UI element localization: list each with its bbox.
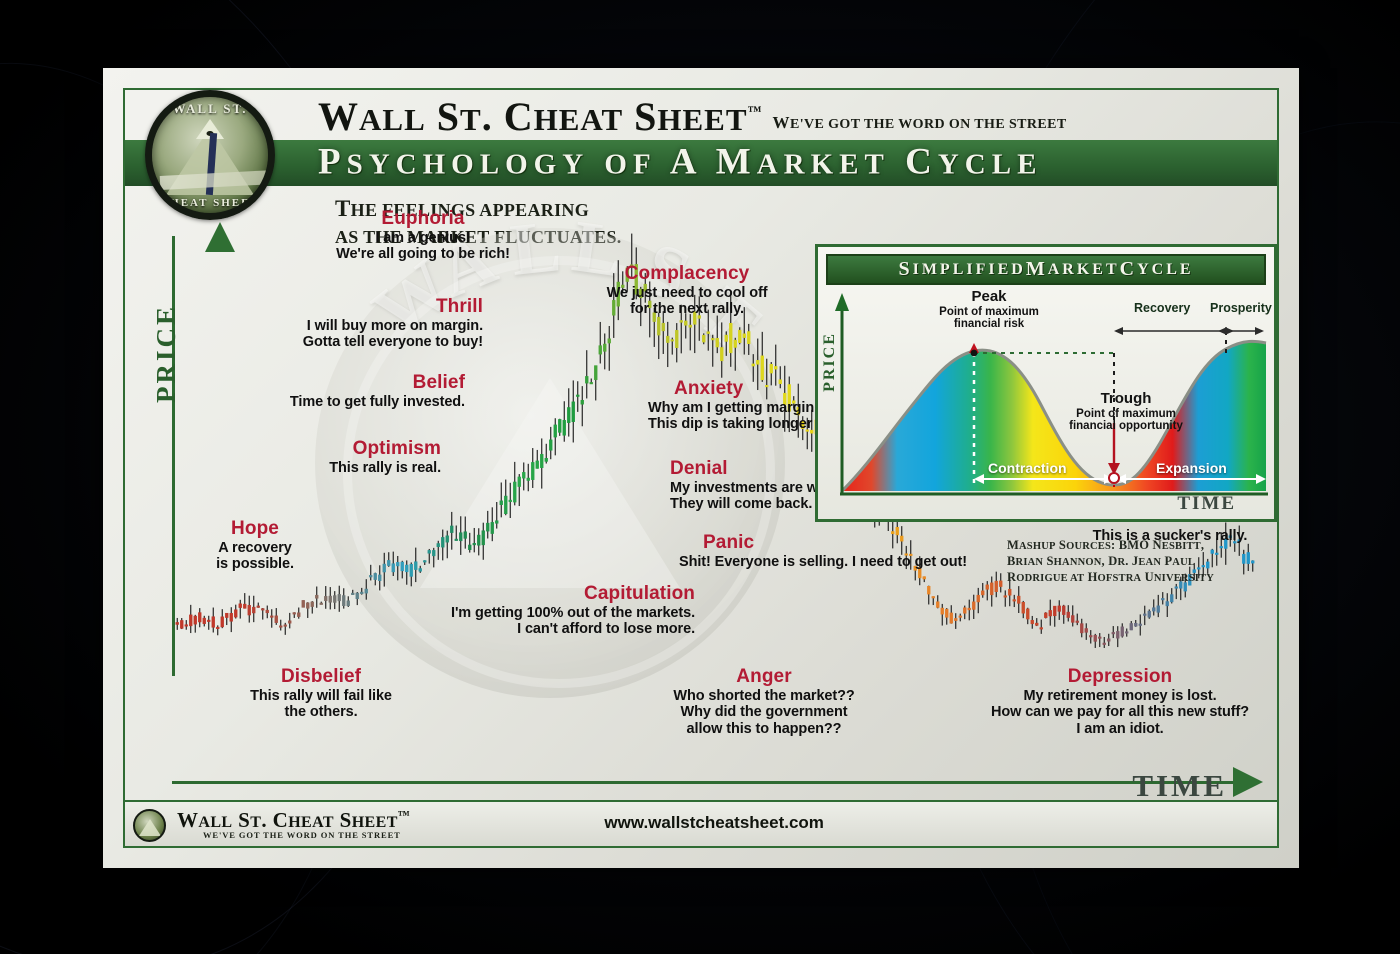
peak-line: Point of maximum — [914, 306, 1064, 319]
annotation-line: I can't afford to lose more. — [385, 621, 695, 638]
footer-tagline: WE'VE GOT THE WORD ON THE STREET — [203, 830, 401, 840]
annotation-euphoria: Euphoria I am a genius! We're all going … — [293, 208, 553, 263]
seal-top-label: WALL ST. — [152, 101, 268, 117]
annotation-line: Who shorted the market?? — [649, 688, 879, 705]
brand-title: WALL ST. CHEAT SHEET™ — [318, 97, 763, 137]
poster-footer: WALL ST. CHEAT SHEET™ WE'VE GOT THE WORD… — [125, 800, 1277, 846]
footer-seal-icon — [133, 809, 166, 842]
annotation-line: Why did the government — [649, 704, 879, 721]
annotation-line: is possible. — [185, 556, 325, 573]
footer-trademark: ™ — [398, 808, 410, 822]
annotation-title: Depression — [975, 666, 1265, 688]
annotation-thrill: Thrill I will buy more on margin. Gotta … — [173, 296, 483, 351]
annotation-line: My retirement money is lost. — [975, 688, 1265, 705]
annotation-line: A recovery — [185, 540, 325, 557]
annotation-panic: Panic Shit! Everyone is selling. I need … — [679, 532, 1039, 570]
x-axis-arrow-icon — [1233, 767, 1263, 797]
inset-title: SIMPLIFIED MARKET CYCLE — [826, 254, 1266, 285]
annotation-optimism: Optimism This rally is real. — [215, 438, 441, 476]
sources-line-3: RODRIGUE AT HOFSTRA UNIVERSITY — [1007, 570, 1275, 586]
seal-bottom-label: CHEAT SHEET — [152, 197, 268, 209]
annotation-capitulation: Capitulation I'm getting 100% out of the… — [385, 583, 695, 638]
inset-x-axis-label: TIME — [1177, 493, 1236, 515]
peak-title: Peak — [914, 289, 1064, 306]
annotation-title: Hope — [185, 518, 325, 540]
annotation-anger: Anger Who shorted the market?? Why did t… — [649, 666, 879, 737]
annotation-line: I will buy more on margin. — [173, 318, 483, 335]
annotation-line: How can we pay for all this new stuff? — [975, 704, 1265, 721]
annotation-line: for the next rally. — [569, 301, 805, 318]
screenshot-root: WALL ST. CHEAT SHEET WALL ST. CHEAT SHEE… — [0, 0, 1400, 954]
annotation-title: Panic — [703, 532, 1039, 554]
brand-header: WALL ST. CHEAT SHEET™ WE'VE GOT THE WORD… — [318, 93, 1258, 137]
annotation-line: We're all going to be rich! — [293, 246, 553, 263]
mashup-sources: MASHUP SOURCES: BMO NESBITT, BRIAN SHANN… — [1007, 538, 1275, 585]
annotation-title: Capitulation — [385, 583, 695, 605]
annotation-line: I am a genius! — [293, 230, 553, 247]
sources-line-1: MASHUP SOURCES: BMO NESBITT, — [1007, 538, 1275, 554]
annotation-line: I'm getting 100% out of the markets. — [385, 605, 695, 622]
infographic-poster: WALL ST. CHEAT SHEET WALL ST. CHEAT SHEE… — [103, 68, 1299, 868]
annotation-title: Euphoria — [293, 208, 553, 230]
annotation-line: Gotta tell everyone to buy! — [173, 334, 483, 351]
annotation-disbelief-1: Disbelief This rally will fail like the … — [241, 666, 401, 721]
inset-plot: PRICE — [826, 291, 1268, 513]
annotation-title: Complacency — [569, 263, 805, 285]
brand-tagline: WE'VE GOT THE WORD ON THE STREET — [773, 113, 1067, 137]
annotation-complacency: Complacency We just need to cool off for… — [569, 263, 805, 318]
annotation-line: This rally will fail like the others. — [241, 688, 401, 721]
trademark-symbol: ™ — [748, 105, 763, 120]
annotation-title: Thrill — [173, 296, 483, 318]
simplified-market-cycle-inset: SIMPLIFIED MARKET CYCLE PRICE — [815, 244, 1277, 522]
x-axis-line — [172, 781, 1247, 784]
annotation-line: allow this to happen?? — [649, 721, 879, 738]
band-label-contraction: Contraction — [988, 460, 1067, 476]
annotation-title: Disbelief — [241, 666, 401, 688]
phase-label-recovery: Recovery — [1134, 301, 1190, 315]
trough-line: Point of maximum — [1044, 408, 1208, 421]
phase-label-prosperity: Prosperity — [1210, 301, 1272, 315]
annotation-line: We just need to cool off — [569, 285, 805, 302]
annotation-title: Anger — [649, 666, 879, 688]
annotation-line: This rally is real. — [215, 460, 441, 477]
annotation-title: Belief — [165, 372, 465, 394]
footer-url[interactable]: www.wallstcheatsheet.com — [604, 813, 824, 833]
trough-line: financial opportunity — [1044, 420, 1208, 433]
inset-trough-annotation: Trough Point of maximum financial opport… — [1044, 391, 1208, 433]
annotation-hope: Hope A recovery is possible. — [185, 518, 325, 573]
sources-line-2: BRIAN SHANNON, DR. JEAN PAUL — [1007, 554, 1275, 570]
annotation-line: I am an idiot. — [975, 721, 1265, 738]
title-band: PSYCHOLOGY OF A MARKET CYCLE — [125, 140, 1277, 186]
band-label-expansion: Expansion — [1156, 460, 1227, 476]
brand-title-text: WALL ST. CHEAT SHEET — [318, 94, 748, 139]
inset-peak-annotation: Peak Point of maximum financial risk — [914, 289, 1064, 331]
annotation-line: Shit! Everyone is selling. I need to get… — [679, 554, 1039, 571]
x-axis-label: TIME — [1132, 768, 1227, 804]
annotation-belief: Belief Time to get fully invested. — [165, 372, 465, 410]
annotation-line: Time to get fully invested. — [165, 394, 465, 411]
annotation-depression: Depression My retirement money is lost. … — [975, 666, 1265, 737]
peak-line: financial risk — [914, 318, 1064, 331]
footer-pyramid-icon — [139, 819, 161, 836]
annotation-title: Optimism — [215, 438, 441, 460]
trough-title: Trough — [1044, 391, 1208, 408]
wall-st-cheat-sheet-seal-logo: WALL ST. CHEAT SHEET — [145, 90, 275, 220]
page-title: PSYCHOLOGY OF A MARKET CYCLE — [318, 141, 1042, 184]
